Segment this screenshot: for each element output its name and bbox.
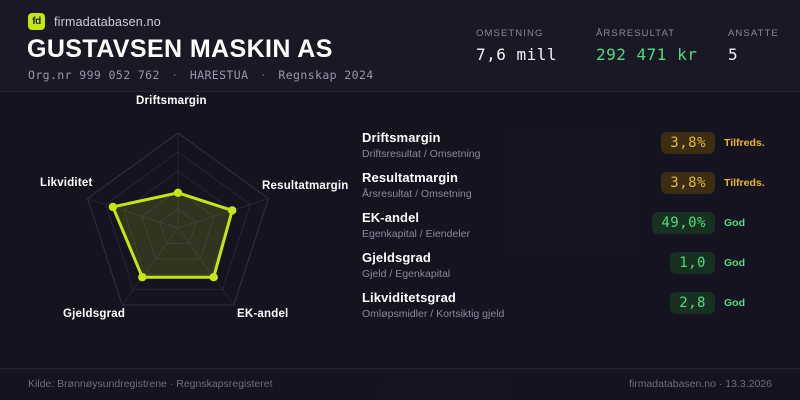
stat-arsresultat-value: 292 471 kr: [596, 45, 728, 64]
brand-name: firmadatabasen.no: [54, 15, 161, 29]
metric-formula: Årsresultat / Omsetning: [362, 188, 662, 201]
metric-value-badge: 2,8: [670, 292, 715, 314]
metric-row-likviditetsgrad[interactable]: Likviditetsgrad Omløpsmidler / Kortsikti…: [362, 290, 782, 330]
status-badge: God: [724, 217, 782, 229]
radar-axis-label-gjeldsgrad: Gjeldsgrad: [63, 308, 125, 320]
status-badge: Tilfreds.: [724, 177, 782, 189]
metric-value-badge: 1,0: [670, 252, 715, 274]
stat-ansatte-label: ANSATTE: [728, 28, 778, 39]
stat-omsetning-value: 7,6 mill: [476, 45, 596, 64]
metric-name: Resultatmargin: [362, 170, 662, 186]
company-period: Regnskap 2024: [278, 68, 373, 82]
report-card: fd firmadatabasen.no GUSTAVSEN MASKIN AS…: [0, 0, 800, 400]
page-title: GUSTAVSEN MASKIN AS: [27, 35, 333, 64]
stat-arsresultat: ÅRSRESULTAT 292 471 kr: [596, 28, 728, 64]
metric-value-badge: 3,8%: [661, 172, 715, 194]
metric-formula: Driftsresultat / Omsetning: [362, 148, 662, 161]
meta-separator-2: ·: [256, 68, 271, 82]
metric-text: Driftsmargin Driftsresultat / Omsetning: [362, 130, 662, 161]
metric-text: Resultatmargin Årsresultat / Omsetning: [362, 170, 662, 201]
stat-ansatte: ANSATTE 5: [728, 28, 778, 64]
radar-axis-label-ek-andel: EK-andel: [237, 308, 288, 320]
metric-formula: Omløpsmidler / Kortsiktig gjeld: [362, 308, 662, 321]
metric-text: Likviditetsgrad Omløpsmidler / Kortsikti…: [362, 290, 662, 321]
status-badge: God: [724, 297, 782, 309]
metric-text: Gjeldsgrad Gjeld / Egenkapital: [362, 250, 662, 281]
status-badge: God: [724, 257, 782, 269]
metric-row-gjeldsgrad[interactable]: Gjeldsgrad Gjeld / Egenkapital 1,0 God: [362, 250, 782, 290]
metric-right: 49,0% God: [652, 212, 782, 234]
metric-right: 3,8% Tilfreds.: [661, 132, 782, 154]
metric-value-badge: 49,0%: [652, 212, 715, 234]
metric-formula: Egenkapital / Eiendeler: [362, 228, 662, 241]
stat-ansatte-value: 5: [728, 45, 778, 64]
metric-row-ek-andel[interactable]: EK-andel Egenkapital / Eiendeler 49,0% G…: [362, 210, 782, 250]
metric-text: EK-andel Egenkapital / Eiendeler: [362, 210, 662, 241]
metric-value-badge: 3,8%: [661, 132, 715, 154]
company-orgnr: Org.nr 999 052 762: [28, 68, 160, 82]
radar-chart: Driftsmargin Resultatmargin EK-andel Gje…: [0, 92, 350, 362]
metric-row-resultatmargin[interactable]: Resultatmargin Årsresultat / Omsetning 3…: [362, 170, 782, 210]
radar-axis-label-driftsmargin: Driftsmargin: [136, 95, 207, 107]
fd-logo-icon: fd: [28, 13, 45, 30]
metric-name: Gjeldsgrad: [362, 250, 662, 266]
stat-omsetning: OMSETNING 7,6 mill: [476, 28, 596, 64]
company-meta: Org.nr 999 052 762 · HARESTUA · Regnskap…: [28, 68, 374, 82]
footer-credit: firmadatabasen.no · 13.3.2026: [629, 378, 772, 390]
radar-axis-label-resultatmargin: Resultatmargin: [262, 180, 349, 192]
stat-arsresultat-label: ÅRSRESULTAT: [596, 28, 728, 39]
header: fd firmadatabasen.no GUSTAVSEN MASKIN AS…: [0, 0, 800, 92]
status-badge: Tilfreds.: [724, 137, 782, 149]
metric-row-driftsmargin[interactable]: Driftsmargin Driftsresultat / Omsetning …: [362, 130, 782, 170]
footer-source: Kilde: Brønnøysundregistrene · Regnskaps…: [28, 378, 273, 390]
metric-formula: Gjeld / Egenkapital: [362, 268, 662, 281]
radar-series: [109, 189, 237, 282]
metric-name: EK-andel: [362, 210, 662, 226]
metric-name: Likviditetsgrad: [362, 290, 662, 306]
radar-chart-svg: [0, 92, 350, 362]
meta-separator-1: ·: [167, 68, 182, 82]
metric-right: 2,8 God: [670, 292, 782, 314]
metric-right: 3,8% Tilfreds.: [661, 172, 782, 194]
stat-omsetning-label: OMSETNING: [476, 28, 596, 39]
header-stats: OMSETNING 7,6 mill ÅRSRESULTAT 292 471 k…: [476, 28, 778, 64]
metric-right: 1,0 God: [670, 252, 782, 274]
company-place: HARESTUA: [190, 68, 249, 82]
brand[interactable]: fd firmadatabasen.no: [28, 13, 161, 30]
footer: Kilde: Brønnøysundregistrene · Regnskaps…: [0, 368, 800, 400]
radar-axis-label-likviditet: Likviditet: [40, 177, 92, 189]
metric-name: Driftsmargin: [362, 130, 662, 146]
metrics-list: Driftsmargin Driftsresultat / Omsetning …: [362, 130, 782, 330]
